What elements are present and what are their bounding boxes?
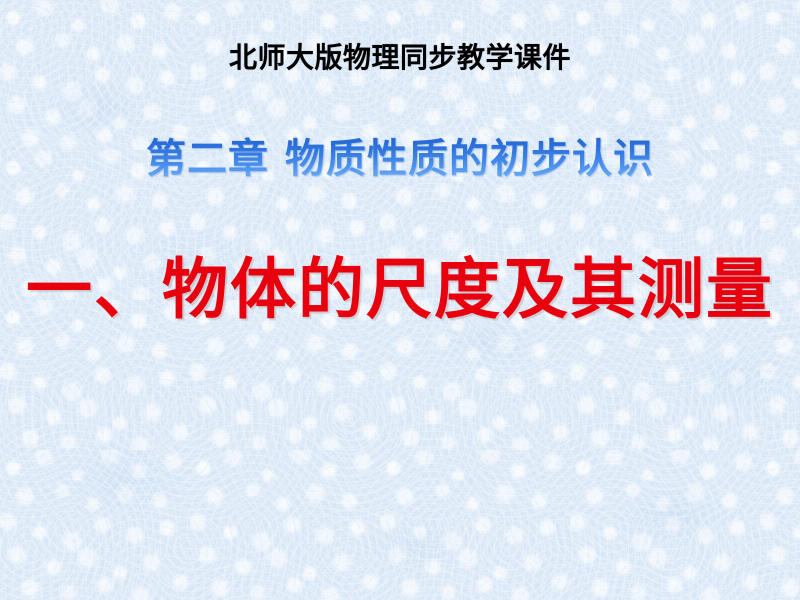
chapter-number: 第二章 (146, 136, 269, 182)
presentation-slide: 北师大版物理同步教学课件 第二章物质性质的初步认识 一、物体的尺度及其测量 (0, 0, 800, 600)
section-title: 一、物体的尺度及其测量 (0, 246, 800, 332)
course-title: 北师大版物理同步教学课件 (0, 38, 800, 78)
chapter-title: 物质性质的初步认识 (285, 136, 654, 182)
chapter-heading: 第二章物质性质的初步认识 (0, 131, 800, 187)
